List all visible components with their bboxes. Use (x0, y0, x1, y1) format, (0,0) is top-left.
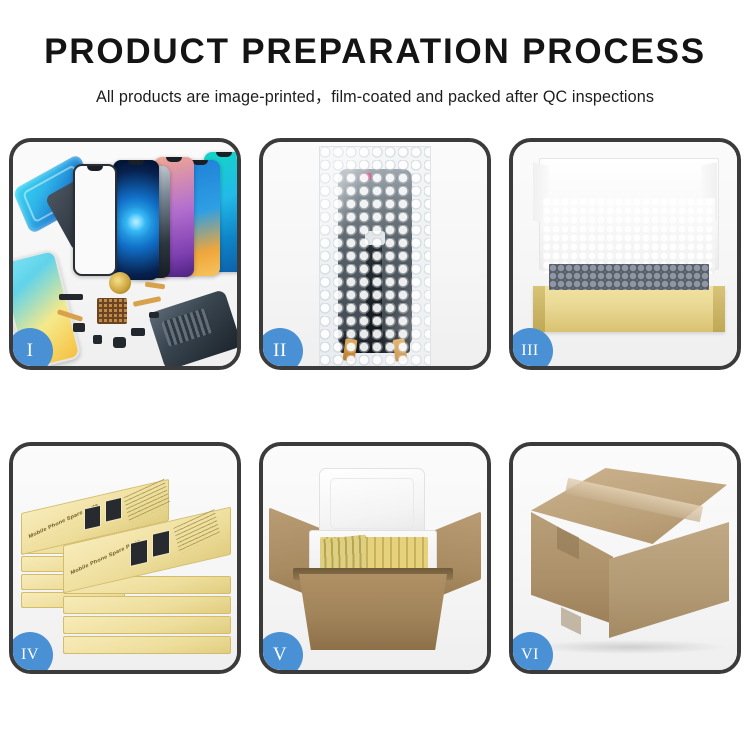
logic-board-icon (148, 289, 237, 366)
yellow-box-tray-icon (533, 286, 725, 332)
notch-icon (128, 160, 144, 165)
phone-jellyfish-wallpaper-icon (113, 160, 159, 280)
phone-fan-group (71, 150, 237, 282)
chip-icon (131, 328, 145, 336)
flex-cable-icon (145, 282, 166, 290)
spare-parts-box (63, 616, 231, 634)
process-step-panel-1: I (9, 138, 241, 370)
chip-icon (113, 337, 126, 348)
page-header: PRODUCT PREPARATION PROCESS All products… (0, 0, 750, 107)
step-1-image (13, 142, 237, 366)
step-5-image (263, 446, 487, 670)
box-window-icon (152, 530, 170, 558)
notch-icon (192, 160, 208, 165)
tray-edge-right (713, 286, 725, 332)
box-lid (64, 637, 230, 653)
chip-icon (149, 312, 159, 318)
box-window-icon (130, 539, 148, 567)
process-step-grid: I II (9, 138, 741, 674)
chip-icon (93, 335, 102, 344)
carton-right-face (609, 522, 729, 638)
spare-parts-box (63, 636, 231, 654)
bubble-texture (320, 147, 430, 366)
step-badge-3: III (509, 328, 553, 370)
gray-bubble-wrap-icon (549, 264, 709, 290)
step-6-image (513, 446, 737, 670)
step-badge-1: I (9, 328, 53, 370)
box-stack-group: Mobile Phone Spare Parts Mobile Phone Sp… (21, 470, 237, 666)
step-badge-5: V (259, 632, 303, 674)
step-badge-4: IV (9, 632, 53, 674)
process-step-panel-3: III (509, 138, 741, 370)
notch-icon (87, 166, 103, 171)
step-2-image (263, 142, 487, 366)
speaker-coil-icon (109, 272, 131, 294)
tray-edge-left (533, 286, 545, 332)
box-lid (64, 597, 230, 613)
step-4-image: Mobile Phone Spare Parts Mobile Phone Sp… (13, 446, 237, 670)
carton-front-icon (299, 574, 447, 650)
flex-cable-icon (133, 296, 161, 307)
step-3-image (513, 142, 737, 366)
step-badge-6: VI (509, 632, 553, 674)
page-subtitle: All products are image-printed，film-coat… (0, 83, 750, 107)
box-window-icon (105, 497, 122, 523)
box-window-icon (84, 505, 101, 531)
white-foam-sheet-icon (543, 198, 715, 274)
page-title: PRODUCT PREPARATION PROCESS (0, 34, 750, 71)
step-badge-2: II (259, 328, 303, 370)
notch-icon (166, 157, 182, 162)
process-step-panel-4: Mobile Phone Spare Parts Mobile Phone Sp… (9, 442, 241, 674)
copper-mesh-icon (97, 298, 127, 324)
tempered-glass-icon (73, 164, 117, 276)
process-step-panel-5: V (259, 442, 491, 674)
spare-parts-box (63, 596, 231, 614)
product-preparation-page: PRODUCT PREPARATION PROCESS All products… (0, 0, 750, 750)
chip-icon (73, 323, 85, 332)
carton-shadow (535, 640, 725, 654)
process-step-panel-6: VI (509, 442, 741, 674)
notch-icon (216, 152, 232, 157)
box-lid (64, 617, 230, 633)
chip-icon (59, 294, 83, 300)
bubble-wrap-bag (319, 146, 431, 366)
process-step-panel-2: II (259, 138, 491, 370)
